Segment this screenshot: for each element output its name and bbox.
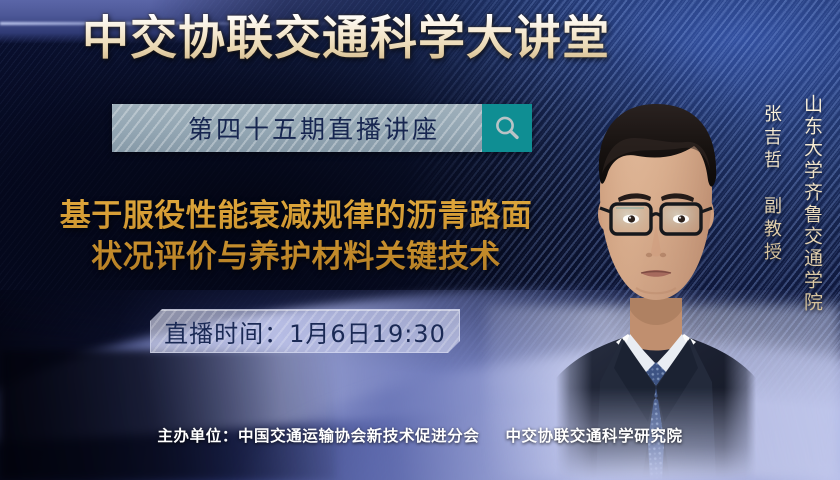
footer-organizers: 主办单位：中国交通运输协会新技术促进分会中交协联交通科学研究院 (0, 424, 840, 446)
page-title: 中交协联交通科学大讲堂 (0, 14, 692, 65)
live-lecture-poster: 中交协联交通科学大讲堂 第四十五期直播讲座 基于服役性能衰减规律的沥青路面 状况… (0, 0, 840, 480)
search-icon (492, 113, 522, 143)
broadcast-time-text: 直播时间：1月6日19:30 (164, 314, 446, 349)
lecture-title-line-1: 基于服役性能衰减规律的沥青路面 (16, 196, 576, 237)
episode-label-area: 第四十五期直播讲座 (112, 104, 482, 152)
organizer-label: 主办单位： (157, 427, 238, 445)
episode-label: 第四十五期直播讲座 (154, 110, 440, 146)
search-button[interactable] (482, 104, 532, 152)
organizer-name-2: 中交协联交通科学研究院 (505, 427, 682, 445)
organizer-name-1: 中国交通运输协会新技术促进分会 (238, 427, 480, 445)
silk-dark-left (0, 350, 336, 480)
speaker-portrait (556, 62, 756, 480)
lecture-title-line-2: 状况评价与养护材料关键技术 (16, 237, 576, 278)
broadcast-time-badge: 直播时间：1月6日19:30 (150, 309, 460, 353)
lecture-title: 基于服役性能衰减规律的沥青路面 状况评价与养护材料关键技术 (16, 196, 576, 278)
speaker-name-title: 张吉哲 副教授 (758, 104, 784, 265)
episode-banner: 第四十五期直播讲座 (112, 104, 532, 152)
speaker-affiliation: 山东大学齐鲁交通学院 (799, 94, 826, 314)
